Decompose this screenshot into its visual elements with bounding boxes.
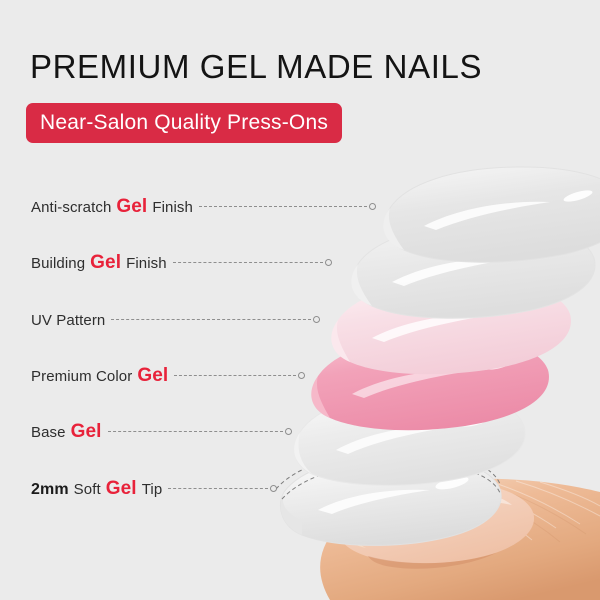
callout-label-base-gel: BaseGel (31, 421, 102, 443)
leader-endpoint-premium-color-gel (298, 372, 305, 379)
leader-endpoint-anti-scratch-gel-finish (369, 203, 376, 210)
callout-row-building-gel-finish: BuildingGelFinish (0, 250, 323, 276)
callout-word: Soft (74, 481, 101, 498)
callout-label-anti-scratch-gel-finish: Anti-scratchGelFinish (31, 196, 193, 218)
callout-word: Premium Color (31, 368, 132, 385)
leader-endpoint-base-gel (285, 428, 292, 435)
layer-building-gel-finish (351, 223, 595, 318)
callout-word: Gel (90, 252, 121, 274)
callout-row-premium-color-gel: Premium ColorGel (0, 363, 296, 389)
callout-label-uv-pattern: UV Pattern (31, 312, 105, 329)
exploded-gel-nail-layers-over-fingertip (0, 0, 600, 600)
leader-line-building-gel-finish (173, 262, 323, 264)
fingertip-illustration (320, 479, 600, 600)
callout-word: 2mm (31, 481, 69, 499)
leader-endpoint-uv-pattern (313, 316, 320, 323)
callout-word: Building (31, 255, 85, 272)
callout-row-uv-pattern: UV Pattern (0, 307, 311, 333)
callout-word: Base (31, 424, 66, 441)
layer-2mm-soft-gel-tip (276, 451, 501, 545)
callout-label-2mm-soft-gel-tip: 2mmSoftGelTip (31, 478, 162, 500)
leader-endpoint-building-gel-finish (325, 259, 332, 266)
callout-word: Gel (106, 478, 137, 500)
leader-line-base-gel (108, 431, 283, 433)
page-title: PREMIUM GEL MADE NAILS (30, 47, 482, 87)
leader-endpoint-2mm-soft-gel-tip (270, 485, 277, 492)
callout-word: UV Pattern (31, 312, 105, 329)
leader-line-2mm-soft-gel-tip (168, 488, 268, 490)
subtitle-badge: Near-Salon Quality Press-Ons (26, 103, 342, 143)
callout-row-2mm-soft-gel-tip: 2mmSoftGelTip (0, 476, 268, 502)
callout-row-base-gel: BaseGel (0, 419, 283, 445)
product-infographic: PREMIUM GEL MADE NAILS Near-Salon Qualit… (0, 0, 600, 600)
layer-uv-pattern (331, 279, 571, 374)
callout-word: Tip (142, 481, 163, 498)
callout-word: Finish (152, 199, 193, 216)
callout-word: Gel (137, 365, 168, 387)
leader-line-uv-pattern (111, 319, 311, 321)
callout-label-building-gel-finish: BuildingGelFinish (31, 252, 167, 274)
callout-word: Finish (126, 255, 167, 272)
callout-word: Gel (116, 196, 147, 218)
callout-row-anti-scratch-gel-finish: Anti-scratchGelFinish (0, 194, 367, 220)
callout-word: Anti-scratch (31, 199, 111, 216)
leader-line-anti-scratch-gel-finish (199, 206, 367, 208)
callout-word: Gel (71, 421, 102, 443)
layer-anti-scratch-gel-finish (383, 167, 600, 262)
layer-premium-color-gel (311, 335, 549, 430)
callout-label-premium-color-gel: Premium ColorGel (31, 365, 168, 387)
layer-base-gel (294, 391, 525, 485)
leader-line-premium-color-gel (174, 375, 296, 377)
